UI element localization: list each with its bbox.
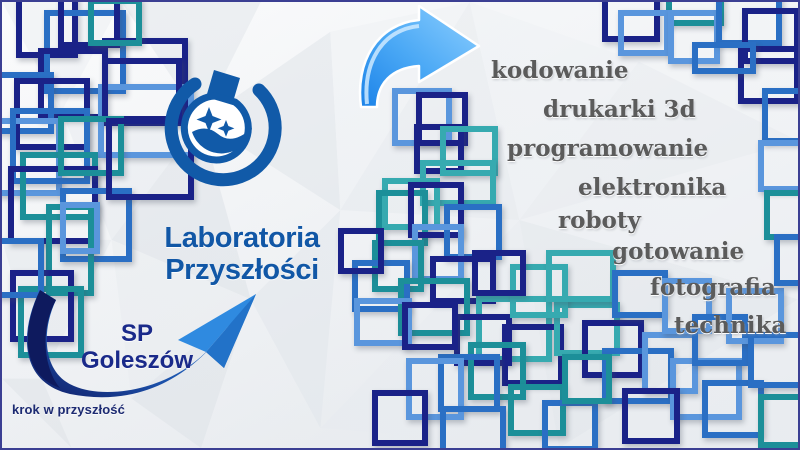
decorative-square — [748, 332, 800, 388]
decorative-square — [382, 178, 440, 230]
decorative-square — [716, 0, 782, 46]
page-title: Laboratoria Przyszłości — [122, 222, 362, 287]
decorative-square — [0, 238, 44, 298]
decorative-square — [20, 152, 98, 220]
flask-in-circle-icon — [162, 62, 282, 187]
decorative-square — [398, 278, 470, 336]
decorative-square — [622, 388, 680, 444]
keyword-item: roboty — [558, 207, 641, 234]
decorative-square — [670, 358, 742, 420]
decorative-square — [38, 48, 108, 120]
decorative-square — [472, 250, 526, 296]
decorative-square — [420, 160, 496, 206]
decorative-square — [758, 394, 800, 448]
decorative-square — [762, 88, 800, 144]
program-title-line1: Laboratoria — [164, 222, 319, 254]
decorative-square — [376, 190, 428, 246]
decorative-square — [542, 400, 598, 450]
decorative-square — [642, 332, 698, 394]
school-name-line1: SP — [121, 320, 153, 347]
decorative-square — [562, 354, 612, 404]
decorative-square — [372, 240, 424, 292]
decorative-square — [510, 264, 568, 318]
decorative-square — [444, 204, 502, 260]
decorative-square — [44, 10, 126, 94]
keyword-item: technika — [674, 312, 786, 339]
decorative-square — [46, 204, 94, 296]
decorative-square — [14, 78, 90, 150]
decorative-square — [554, 302, 620, 356]
decorative-square — [16, 0, 78, 58]
decorative-square — [666, 0, 724, 26]
decorative-square — [440, 126, 498, 176]
decorative-square — [618, 10, 670, 56]
decorative-square — [8, 166, 98, 244]
decorative-square — [476, 296, 552, 362]
decorative-square — [602, 348, 674, 404]
decorative-square — [430, 256, 496, 304]
decorative-square — [508, 384, 566, 436]
decorative-square — [354, 298, 412, 346]
keyword-item: programowanie — [507, 135, 708, 162]
decorative-square — [502, 324, 564, 386]
decorative-square — [454, 314, 512, 366]
decorative-square — [546, 250, 616, 302]
keyword-item: kodowanie — [491, 57, 629, 84]
decorative-square — [764, 190, 800, 240]
school-name: SP Goleszów — [42, 320, 232, 375]
decorative-square — [668, 10, 720, 64]
decorative-square — [758, 140, 800, 192]
program-title-line2: Przyszłości — [122, 254, 362, 286]
decorative-square — [88, 0, 142, 46]
decorative-square — [738, 46, 800, 104]
school-motto: krok w przyszłość — [12, 402, 125, 417]
decorative-square — [408, 182, 464, 238]
decorative-square — [10, 108, 90, 184]
decorative-square — [0, 118, 62, 196]
decorative-square — [372, 390, 428, 446]
decorative-square — [402, 302, 458, 350]
poster-canvas: Laboratoria Przyszłości — [0, 0, 800, 450]
decorative-square — [742, 8, 800, 64]
decorative-square — [412, 224, 464, 282]
decorative-square — [414, 124, 464, 174]
decorative-square — [692, 42, 756, 74]
decorative-square — [406, 358, 464, 420]
decorative-square — [602, 0, 660, 42]
decorative-square — [702, 380, 764, 438]
decorative-square — [0, 72, 54, 134]
decorative-square — [60, 202, 100, 254]
decorative-square — [58, 116, 124, 176]
keyword-item: gotowanie — [612, 238, 744, 265]
decorative-square — [440, 406, 506, 450]
decorative-square — [438, 354, 500, 412]
keyword-item: drukarki 3d — [543, 96, 696, 123]
curved-arrow-up-right-icon — [347, 4, 487, 109]
keyword-item: elektronika — [578, 174, 726, 201]
school-name-line2: Goleszów — [42, 347, 232, 374]
decorative-square — [58, 0, 120, 48]
decorative-square — [582, 320, 644, 378]
decorative-square — [468, 342, 526, 400]
keyword-item: fotografia — [650, 274, 776, 301]
decorative-square — [774, 234, 800, 286]
